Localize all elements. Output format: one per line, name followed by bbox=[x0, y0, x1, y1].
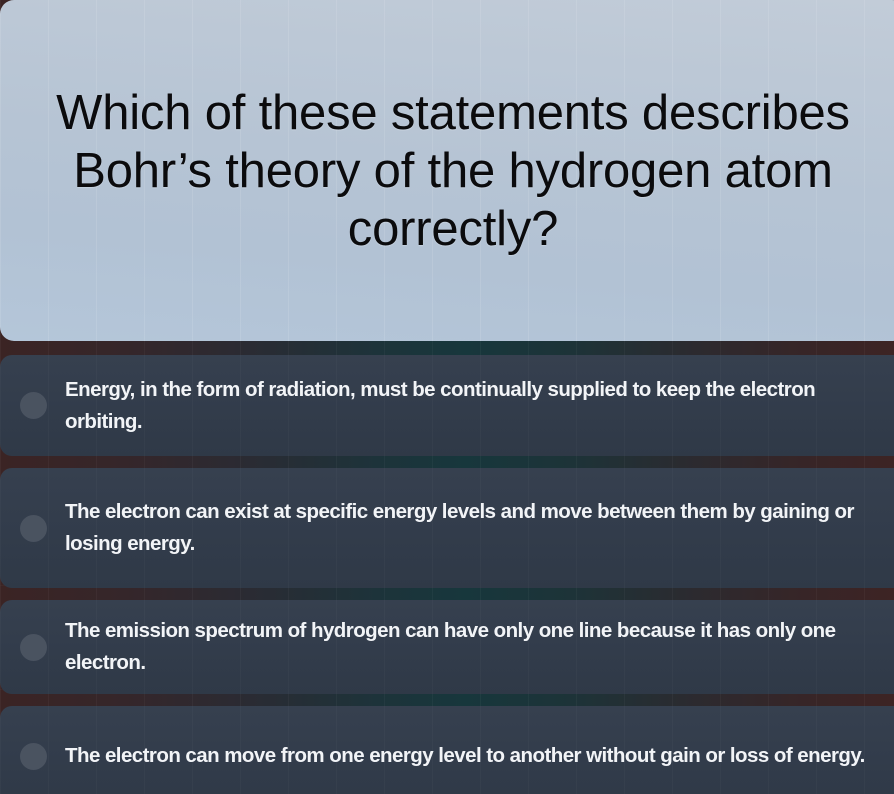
answer-option-1-label: Energy, in the form of radiation, must b… bbox=[65, 374, 884, 438]
question-text: Which of these statements describes Bohr… bbox=[31, 84, 876, 258]
question-card: Which of these statements describes Bohr… bbox=[0, 0, 894, 341]
answer-option-2-label: The electron can exist at specific energ… bbox=[65, 496, 884, 560]
radio-unselected-icon[interactable] bbox=[20, 634, 47, 661]
answer-option-1[interactable]: Energy, in the form of radiation, must b… bbox=[0, 355, 894, 456]
answer-option-3[interactable]: The emission spectrum of hydrogen can ha… bbox=[0, 600, 894, 694]
answer-option-4-label: The electron can move from one energy le… bbox=[65, 740, 875, 772]
radio-unselected-icon[interactable] bbox=[20, 515, 47, 542]
answer-options-list: Energy, in the form of radiation, must b… bbox=[0, 355, 894, 794]
radio-unselected-icon[interactable] bbox=[20, 743, 47, 770]
radio-unselected-icon[interactable] bbox=[20, 392, 47, 419]
answer-option-3-label: The emission spectrum of hydrogen can ha… bbox=[65, 615, 884, 679]
answer-option-2[interactable]: The electron can exist at specific energ… bbox=[0, 468, 894, 588]
quiz-screen: Which of these statements describes Bohr… bbox=[0, 0, 894, 794]
answer-option-4[interactable]: The electron can move from one energy le… bbox=[0, 706, 894, 794]
